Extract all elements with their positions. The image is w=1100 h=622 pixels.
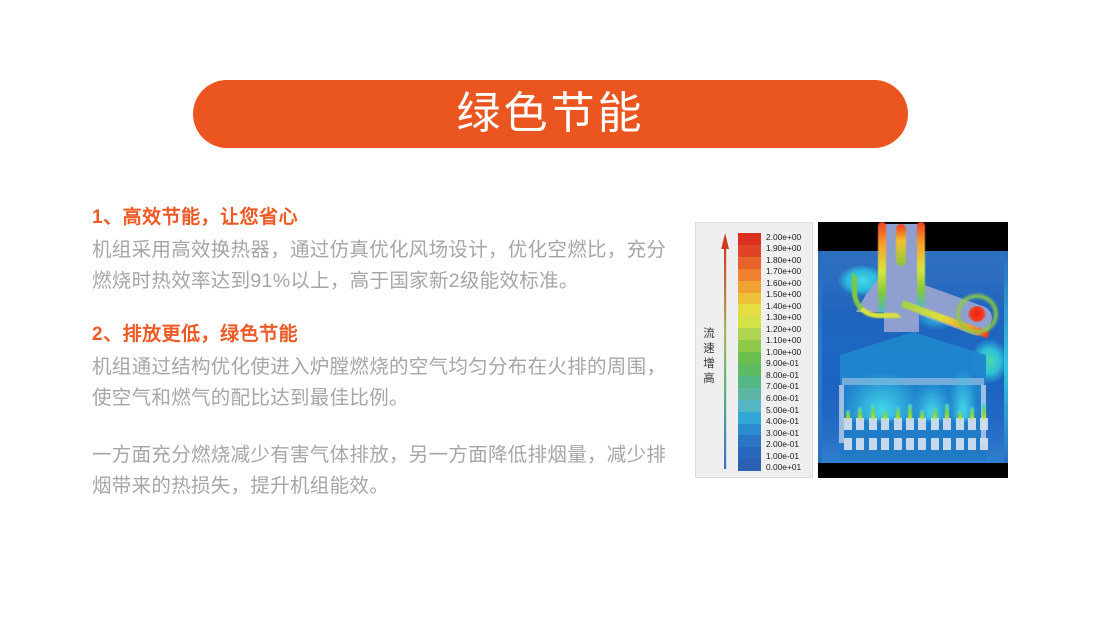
burner-flame (933, 407, 937, 419)
burner-element (918, 438, 926, 450)
burner-element (931, 438, 939, 450)
colorbar-band-12 (738, 376, 761, 388)
colorbar-tick-label-2: 1.80e+00 (766, 254, 812, 266)
burner-row-top (844, 418, 988, 430)
colorbar-band-9 (738, 340, 761, 352)
burner-element (956, 438, 964, 450)
burner-element (968, 438, 976, 450)
burner-element (906, 418, 914, 430)
page-title: 绿色节能 (457, 92, 645, 136)
section-2: 2、排放更低，绿色节能 机组通过结构优化使进入炉膛燃烧的空气均匀分布在火排的周围… (92, 320, 674, 414)
colorbar-tick-label-7: 1.30e+00 (766, 312, 812, 324)
section-2-heading: 2、排放更低，绿色节能 (92, 320, 674, 350)
colorbar-tick-label-16: 4.00e-01 (766, 416, 812, 428)
legend-axis-char-3: 高 (701, 372, 717, 387)
burner-element (856, 418, 864, 430)
colorbar (738, 233, 761, 471)
colorbar-band-11 (738, 364, 761, 376)
burner-element (844, 418, 852, 430)
colorbar-legend-panel: 流 速 增 高 2.00e+001.90e+001.80e+001.70e+00… (695, 222, 813, 478)
section-1-heading: 1、高效节能，让您省心 (92, 203, 674, 233)
velocity-jet-center (896, 224, 906, 266)
colorbar-tick-label-12: 8.00e-01 (766, 369, 812, 381)
burner-flame (970, 407, 974, 419)
burner-flame (908, 404, 912, 419)
section-3: 一方面充分燃烧减少有害气体排放，另一方面降低排烟量，减少排烟带来的热损失，提升机… (92, 440, 674, 502)
colorbar-band-10 (738, 352, 761, 364)
burner-element (980, 438, 988, 450)
velocity-increase-arrow-icon (721, 233, 729, 469)
burner-element (931, 418, 939, 430)
velocity-hotspot (968, 306, 986, 322)
colorbar-tick-label-8: 1.20e+00 (766, 323, 812, 335)
velocity-jet-elbow (852, 272, 902, 318)
colorbar-tick-label-11: 9.00e-01 (766, 358, 812, 370)
burner-element (906, 438, 914, 450)
burner-element (894, 438, 902, 450)
colorbar-band-6 (738, 304, 761, 316)
colorbar-band-15 (738, 412, 761, 424)
burner-flame (896, 407, 900, 419)
burner-element (856, 438, 864, 450)
burner-element (894, 418, 902, 430)
colorbar-band-2 (738, 257, 761, 269)
colorbar-tick-label-4: 1.60e+00 (766, 277, 812, 289)
legend-axis-char-1: 速 (701, 342, 717, 357)
burner-element (943, 438, 951, 450)
burner-element (968, 418, 976, 430)
section-3-body: 一方面充分燃烧减少有害气体排放，另一方面降低排烟量，减少排烟带来的热损失，提升机… (92, 440, 674, 502)
colorbar-band-7 (738, 316, 761, 328)
colorbar-band-4 (738, 281, 761, 293)
section-2-body: 机组通过结构优化使进入炉膛燃烧的空气均匀分布在火排的周围，使空气和燃气的配比达到… (92, 352, 674, 414)
title-banner: 绿色节能 (193, 80, 908, 148)
slide-root: 绿色节能 1、高效节能，让您省心 机组采用高效换热器，通过仿真优化风场设计，优化… (0, 0, 1100, 622)
colorbar-band-16 (738, 424, 761, 436)
burner-element (943, 418, 951, 430)
colorbar-tick-label-14: 6.00e-01 (766, 392, 812, 404)
burner-flame (846, 410, 850, 419)
colorbar-band-5 (738, 293, 761, 305)
colorbar-tick-label-18: 2.00e-01 (766, 439, 812, 451)
legend-axis-label: 流 速 增 高 (701, 327, 717, 387)
burner-element (918, 418, 926, 430)
burner-flame (982, 404, 986, 419)
colorbar-tick-label-19: 1.00e-01 (766, 450, 812, 462)
colorbar-tick-label-15: 5.00e-01 (766, 404, 812, 416)
burner-element (869, 418, 877, 430)
colorbar-tick-label-10: 1.00e+00 (766, 346, 812, 358)
burner-flame (883, 410, 887, 419)
chamber-wall-left (839, 385, 844, 443)
colorbar-band-18 (738, 447, 761, 459)
content-column: 1、高效节能，让您省心 机组采用高效换热器，通过仿真优化风场设计，优化空燃比，充… (92, 203, 674, 508)
colorbar-tick-label-6: 1.40e+00 (766, 300, 812, 312)
burner-row-bottom (844, 438, 988, 450)
section-1: 1、高效节能，让您省心 机组采用高效换热器，通过仿真优化风场设计，优化空燃比，充… (92, 203, 674, 297)
colorbar-tick-label-5: 1.50e+00 (766, 289, 812, 301)
colorbar-tick-label-17: 3.00e-01 (766, 427, 812, 439)
colorbar-tick-label-0: 2.00e+00 (766, 231, 812, 243)
colorbar-tick-label-13: 7.00e-01 (766, 381, 812, 393)
burner-flame (958, 410, 962, 419)
colorbar-band-3 (738, 269, 761, 281)
burner-flame (858, 407, 862, 419)
burner-element (980, 418, 988, 430)
burner-element (869, 438, 877, 450)
cfd-velocity-contour-image (818, 222, 1008, 478)
cfd-canvas (818, 222, 1008, 478)
burner-element (881, 438, 889, 450)
colorbar-band-17 (738, 435, 761, 447)
colorbar-band-14 (738, 400, 761, 412)
burner-flame (920, 410, 924, 419)
burner-flame (871, 404, 875, 419)
colorbar-band-0 (738, 233, 761, 245)
burner-element (881, 418, 889, 430)
burner-element (844, 438, 852, 450)
velocity-jet-right (917, 222, 925, 308)
colorbar-tick-label-1: 1.90e+00 (766, 243, 812, 255)
colorbar-band-8 (738, 328, 761, 340)
colorbar-tick-label-3: 1.70e+00 (766, 266, 812, 278)
legend-axis-char-0: 流 (701, 327, 717, 342)
colorbar-tick-label-9: 1.10e+00 (766, 335, 812, 347)
section-1-body: 机组采用高效换热器，通过仿真优化风场设计，优化空燃比，充分燃烧时热效率达到91%… (92, 235, 674, 297)
colorbar-band-1 (738, 245, 761, 257)
colorbar-band-19 (738, 459, 761, 471)
burner-element (956, 418, 964, 430)
burner-flame (945, 404, 949, 419)
colorbar-tick-label-20: 0.00e+01 (766, 462, 812, 474)
colorbar-band-13 (738, 388, 761, 400)
colorbar-tick-labels: 2.00e+001.90e+001.80e+001.70e+001.60e+00… (766, 231, 812, 473)
legend-axis-char-2: 增 (701, 357, 717, 372)
